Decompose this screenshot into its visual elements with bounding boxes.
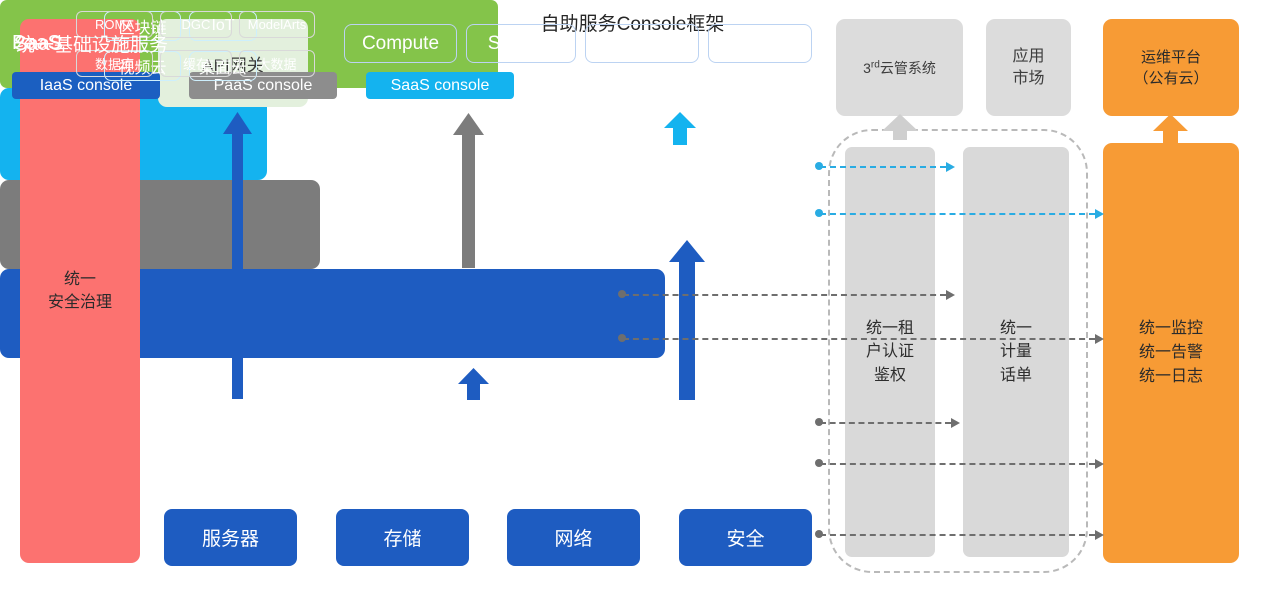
dashed-arrowhead xyxy=(1095,459,1104,469)
infrastructure-services-label: 统一基础设施服务 xyxy=(16,30,168,57)
hardware-label-server: 服务器 xyxy=(202,524,259,551)
paas-chip-modelarts[interactable]: ModelArts xyxy=(239,11,315,38)
hardware-box-storage[interactable]: 存储 xyxy=(336,509,469,566)
hardware-box-server[interactable]: 服务器 xyxy=(164,509,297,566)
dashed-arrowhead xyxy=(946,290,955,300)
dashed-line-segment xyxy=(820,534,1095,536)
dashed-arrowhead xyxy=(946,162,955,172)
dashed-line-segment xyxy=(623,294,946,296)
dashed-line-segment xyxy=(623,338,1095,340)
infra-chip-cce[interactable]: CCE xyxy=(708,24,812,63)
ops-platform-line2: （公有云） xyxy=(1133,68,1208,89)
third-party-cloud-mgmt-box[interactable]: 3rd云管系统 xyxy=(836,19,963,116)
unified-tenant-auth-line3: 鉴权 xyxy=(866,364,914,387)
dashed-line-segment xyxy=(820,166,946,168)
unified-monitoring-line2: 统一告警 xyxy=(1139,341,1203,365)
paas-chip-dgc[interactable]: DGC xyxy=(160,11,232,38)
paas-chip-bigdata[interactable]: 大数据 xyxy=(239,50,315,77)
ops-platform-line1: 运维平台 xyxy=(1133,47,1208,68)
arrow-infra-to-paas xyxy=(458,368,489,400)
security-governance-panel[interactable]: 统一 安全治理 xyxy=(20,19,140,563)
hardware-label-storage: 存储 xyxy=(383,524,421,551)
app-market-line1: 应用 xyxy=(1012,46,1044,68)
ops-platform-box[interactable]: 运维平台 （公有云） xyxy=(1103,19,1239,116)
infra-chip-compute[interactable]: Compute xyxy=(344,24,457,63)
unified-metering-billing-column[interactable]: 统一 计量 话单 xyxy=(963,147,1069,557)
unified-metering-line2: 计量 xyxy=(1000,340,1032,363)
unified-tenant-auth-column[interactable]: 统一租 户认证 鉴权 xyxy=(845,147,935,557)
unified-tenant-auth-line2: 户认证 xyxy=(866,340,914,363)
unified-tenant-auth-line1: 统一租 xyxy=(866,317,914,340)
arrow-saas-to-console xyxy=(664,112,696,145)
unified-metering-line3: 话单 xyxy=(1000,364,1032,387)
hardware-label-security: 安全 xyxy=(726,524,764,551)
unified-monitoring-line3: 统一日志 xyxy=(1139,365,1203,389)
dashed-arrowhead xyxy=(1095,530,1104,540)
arrow-ops-side-to-ops-top xyxy=(1153,114,1188,145)
dashed-arrowhead xyxy=(1095,209,1104,219)
security-governance-line1: 统一 xyxy=(48,268,112,291)
unified-monitoring-line1: 统一监控 xyxy=(1139,317,1203,341)
app-market-box[interactable]: 应用 市场 xyxy=(986,19,1071,116)
hardware-box-security[interactable]: 安全 xyxy=(679,509,812,566)
dashed-arrowhead xyxy=(1095,334,1104,344)
hardware-box-network[interactable]: 网络 xyxy=(507,509,640,566)
saas-console-chip[interactable]: SaaS console xyxy=(366,72,514,99)
unified-metering-line1: 统一 xyxy=(1000,317,1032,340)
dashed-line-segment xyxy=(820,213,1095,215)
infra-chip-storage[interactable]: Storage xyxy=(466,24,576,63)
dashed-arrowhead xyxy=(951,418,960,428)
third-party-cloud-mgmt-label: 3rd云管系统 xyxy=(863,58,936,78)
app-market-line2: 市场 xyxy=(1012,68,1044,90)
unified-monitoring-panel[interactable]: 统一监控 统一告警 统一日志 xyxy=(1103,143,1239,563)
arrow-infra-to-saas xyxy=(669,240,705,400)
architecture-diagram: 统一 安全治理 API网关 自助服务Console框架 IaaS console… xyxy=(0,0,1265,605)
hardware-label-network: 网络 xyxy=(554,524,592,551)
paas-chip-cache[interactable]: 缓存 xyxy=(160,50,232,77)
arrow-paas-to-console xyxy=(453,113,484,268)
infra-chip-network[interactable]: Network xyxy=(585,24,699,63)
security-governance-line2: 安全治理 xyxy=(48,291,112,314)
dashed-line-segment xyxy=(820,422,951,424)
dashed-line-segment xyxy=(820,463,1095,465)
